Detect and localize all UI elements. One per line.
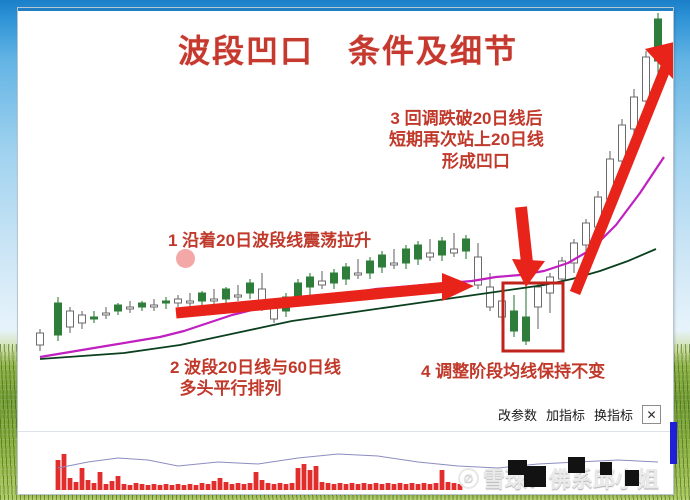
annotation-2-text: 2 波段20日线与60日线 多头平行排列 <box>170 357 341 400</box>
redaction-block-wm-4 <box>600 462 612 475</box>
annotation-3-text: 3 回调跌破20日线后 短期再次站上20日线 形成凹口 <box>389 108 544 172</box>
chart-toolbar[interactable]: 改参数 加指标 换指标 ✕ <box>498 405 661 424</box>
annotation-arrow-right <box>176 273 474 313</box>
highlight-dot <box>176 249 195 268</box>
page-title: 波段凹口 条件及细节 <box>178 26 518 72</box>
switch-indicator-button[interactable]: 换指标 <box>594 405 633 424</box>
close-icon[interactable]: ✕ <box>642 405 661 424</box>
annotation-4-text: 4 调整阶段均线保持不变 <box>421 361 605 382</box>
redaction-block-wm-5 <box>625 470 639 486</box>
add-indicator-button[interactable]: 加指标 <box>546 405 585 424</box>
redaction-block-wm-3 <box>568 457 585 473</box>
change-params-button[interactable]: 改参数 <box>498 405 537 424</box>
watermark-logo-icon: ∅ <box>458 468 479 489</box>
annotation-1-text: 1 沿着20日波段线震荡拉升 <box>168 230 371 251</box>
vertical-scroll-indicator[interactable] <box>670 422 677 464</box>
screenshot-stage: 改参数 加指标 换指标 ✕ 波段凹口 条件及细节 1 沿着20日波段线震荡拉升 … <box>0 0 690 500</box>
redaction-block-wm-2 <box>524 466 546 487</box>
